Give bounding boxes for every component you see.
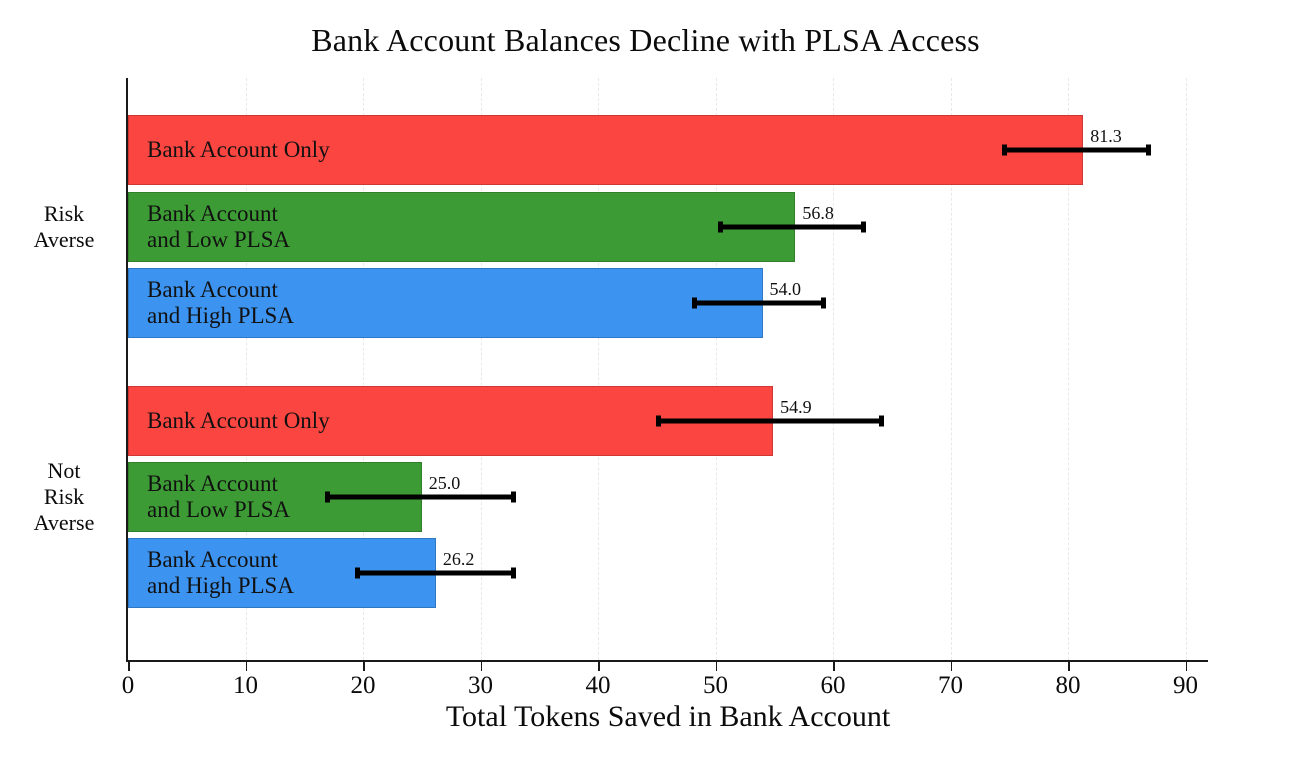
error-cap-high [821,298,826,309]
bar-value-label: 56.8 [802,203,834,224]
error-cap-low [656,416,661,427]
error-cap-low [355,568,360,579]
error-cap-high [511,492,516,503]
x-tick-label-60: 60 [821,672,846,700]
bar-value-label: 26.2 [443,549,475,570]
bar-value-label: 25.0 [429,473,461,494]
bar-label: Bank Account Only [147,137,330,163]
error-bar-g1-2 [355,571,516,576]
x-tick-label-30: 30 [468,672,493,700]
x-tick-mark-60 [833,662,835,671]
x-tick-label-80: 80 [1056,672,1081,700]
group-label-risk-averse: Risk Averse [8,201,120,253]
x-tick-mark-50 [716,662,718,671]
error-bar-g1-1 [325,495,515,500]
bar-label: Bank Account and Low PLSA [147,201,290,253]
x-tick-mark-30 [481,662,483,671]
bar-label: Bank Account and Low PLSA [147,471,290,523]
bar-g0-2[interactable]: Bank Account and High PLSA [128,268,763,338]
plot-area: Bank Account Only81.3Bank Account and Lo… [128,78,1208,660]
error-bar-g0-0 [1002,148,1151,153]
group-label-not-risk-averse: Not Risk Averse [8,458,120,536]
x-tick-label-50: 50 [703,672,728,700]
x-tick-label-90: 90 [1173,672,1198,700]
x-tick-label-0: 0 [122,672,135,700]
x-axis-spine [126,660,1208,662]
bar-value-label: 81.3 [1090,126,1122,147]
error-cap-low [325,492,330,503]
error-bar-g0-2 [692,301,826,306]
x-tick-mark-20 [363,662,365,671]
y-axis-group-labels: Risk AverseNot Risk Averse [8,0,120,774]
gridline-x-90 [1186,78,1188,660]
x-tick-label-70: 70 [938,672,963,700]
bar-g0-1[interactable]: Bank Account and Low PLSA [128,192,795,262]
bar-value-label: 54.0 [770,279,802,300]
chart-title: Bank Account Balances Decline with PLSA … [0,22,1291,59]
error-cap-high [879,416,884,427]
x-tick-label-40: 40 [586,672,611,700]
x-tick-label-20: 20 [351,672,376,700]
error-cap-low [692,298,697,309]
x-tick-mark-70 [951,662,953,671]
x-axis-label: Total Tokens Saved in Bank Account [128,700,1208,734]
chart-figure: Bank Account Balances Decline with PLSA … [0,0,1291,774]
bar-label: Bank Account and High PLSA [147,277,294,329]
x-tick-mark-0 [128,662,130,671]
bar-value-label: 54.9 [780,397,812,418]
x-tick-mark-90 [1186,662,1188,671]
bar-g0-0[interactable]: Bank Account Only [128,115,1083,185]
bar-label: Bank Account and High PLSA [147,547,294,599]
x-tick-mark-40 [598,662,600,671]
error-cap-high [1146,145,1151,156]
error-bar-g1-0 [656,419,884,424]
error-cap-high [511,568,516,579]
error-bar-g0-1 [718,225,866,230]
error-cap-high [861,222,866,233]
bar-label: Bank Account Only [147,408,330,434]
x-tick-label-10: 10 [233,672,258,700]
x-tick-mark-80 [1068,662,1070,671]
x-tick-mark-10 [246,662,248,671]
error-cap-low [718,222,723,233]
error-cap-low [1002,145,1007,156]
